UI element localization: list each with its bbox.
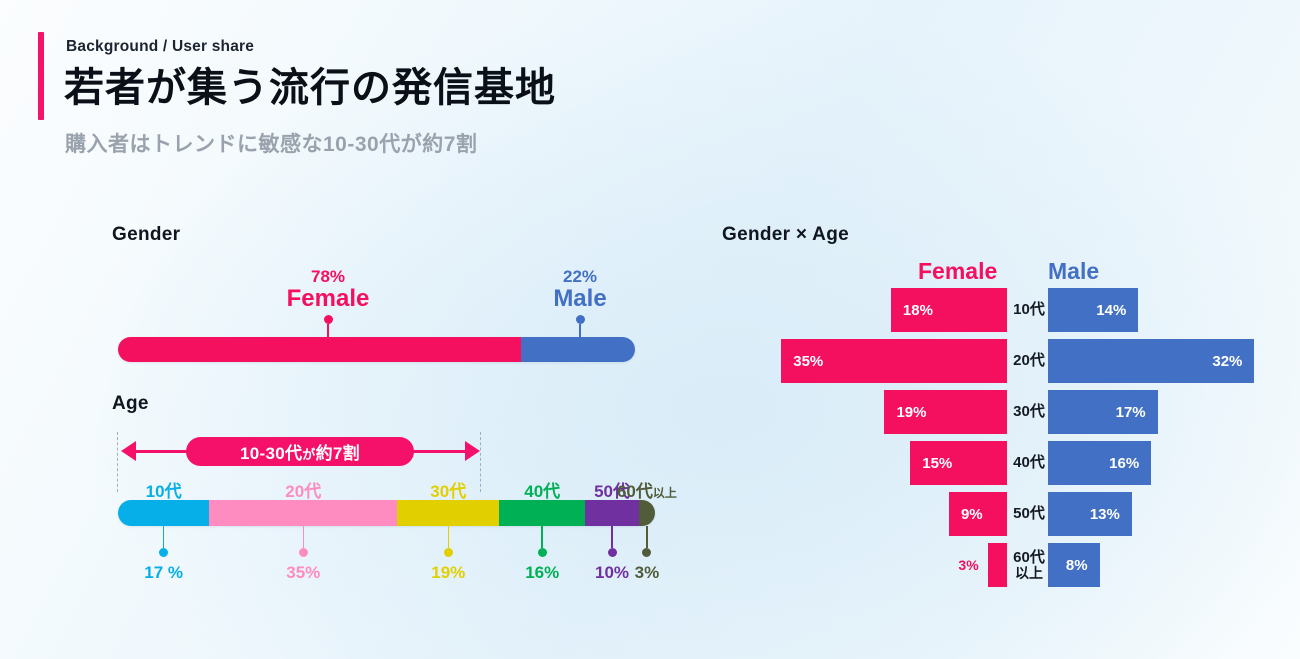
age-dot — [538, 548, 547, 557]
age-dot — [299, 548, 308, 557]
age-percent-text: 19% — [403, 563, 493, 583]
cross-row-60代以上: 3%60代以上8% — [700, 543, 1280, 587]
age-percent-60代: 3% — [602, 526, 692, 583]
gender-callout-male: 22% Male — [530, 268, 630, 345]
cross-female-pct: 19% — [884, 404, 938, 421]
cross-male-bar: 14% — [1048, 288, 1138, 332]
age-label-10代: 10代 — [119, 477, 209, 502]
age-label-60代: 60代以上 — [602, 477, 692, 502]
gender-female-pct: 78% — [268, 268, 388, 286]
eyebrow-text: Background / User share — [66, 38, 254, 56]
cross-male-bar: 8% — [1048, 543, 1100, 587]
cross-female-bar: 15% — [910, 441, 1007, 485]
gender-bar-segment-male — [521, 337, 635, 362]
section-title-gender: Gender — [112, 224, 180, 246]
age-stem — [541, 526, 543, 548]
cross-female-bar: 35% — [781, 339, 1007, 383]
cross-male-pct: 8% — [1054, 557, 1100, 574]
age-bar-segment-20代 — [209, 500, 397, 526]
gender-male-dot — [576, 315, 585, 324]
age-callout-text: 10-30代が約7割 — [240, 439, 360, 464]
cross-row-40代: 15%40代16% — [700, 441, 1280, 485]
gender-stacked-bar — [118, 337, 635, 362]
cross-row-50代: 9%50代13% — [700, 492, 1280, 536]
age-percent-10代: 17 % — [119, 526, 209, 583]
age-stem — [303, 526, 305, 548]
cross-female-bar: 18% — [891, 288, 1007, 332]
age-bar-segment-50代 — [585, 500, 639, 526]
age-stem — [163, 526, 165, 548]
age-percent-text: 3% — [602, 563, 692, 583]
age-dot — [642, 548, 651, 557]
cross-age-label-line1: 10代 — [1013, 302, 1045, 318]
page-title: 若者が集う流行の発信基地 — [64, 66, 556, 111]
cross-age-label: 10代 — [1007, 288, 1051, 332]
age-stem — [448, 526, 450, 548]
cross-header-male: Male — [1048, 258, 1099, 285]
cross-age-label-line1: 50代 — [1013, 506, 1045, 522]
cross-female-side: 35% — [700, 339, 1007, 383]
gender-callout-female: 78% Female — [268, 268, 388, 345]
gender-male-pct: 22% — [530, 268, 630, 286]
cross-male-bar: 16% — [1048, 441, 1151, 485]
section-title-gender-age: Gender × Age — [722, 224, 849, 246]
gender-bar-segment-female — [118, 337, 521, 362]
arrow-right-icon — [465, 441, 480, 461]
gender-female-label: Female — [268, 286, 388, 312]
cross-female-bar: 19% — [884, 390, 1007, 434]
age-stacked-bar — [118, 500, 655, 526]
cross-age-label-line2: 以上 — [1015, 566, 1043, 581]
age-percent-30代: 19% — [403, 526, 493, 583]
age-label-30代: 30代 — [403, 477, 493, 502]
cross-female-side: 9% — [700, 492, 1007, 536]
cross-header-female: Female — [918, 258, 997, 285]
cross-age-label-line1: 40代 — [1013, 455, 1045, 471]
age-callout-pill: 10-30代が約7割 — [186, 437, 414, 466]
cross-male-pct: 13% — [1078, 506, 1132, 523]
cross-age-label: 50代 — [1007, 492, 1051, 536]
cross-age-label-line1: 60代 — [1013, 550, 1045, 566]
cross-female-pct: 35% — [781, 353, 835, 370]
cross-male-pct: 32% — [1200, 353, 1254, 370]
cross-age-label: 40代 — [1007, 441, 1051, 485]
age-bar-segment-60代 — [639, 500, 655, 526]
cross-male-pct: 14% — [1084, 302, 1138, 319]
cross-male-bar: 13% — [1048, 492, 1132, 536]
age-percent-text: 17 % — [119, 563, 209, 583]
age-dot — [159, 548, 168, 557]
section-title-age: Age — [112, 393, 149, 415]
cross-female-side: 3% — [700, 543, 1007, 587]
cross-female-pct-outside: 3% — [958, 557, 987, 573]
cross-male-bar: 17% — [1048, 390, 1158, 434]
cross-female-bar: 9% — [949, 492, 1007, 536]
cross-row-10代: 18%10代14% — [700, 288, 1280, 332]
age-percent-text: 35% — [258, 563, 348, 583]
cross-female-side: 18% — [700, 288, 1007, 332]
cross-female-side: 15% — [700, 441, 1007, 485]
age-dot — [444, 548, 453, 557]
age-label-20代: 20代 — [258, 477, 348, 502]
age-stem — [646, 526, 648, 548]
gender-male-label: Male — [530, 286, 630, 312]
cross-row-20代: 35%20代32% — [700, 339, 1280, 383]
cross-male-pct: 17% — [1104, 404, 1158, 421]
gender-female-dot — [324, 315, 333, 324]
age-bar-segment-40代 — [499, 500, 585, 526]
arrow-left-icon — [121, 441, 136, 461]
page-subtitle: 購入者はトレンドに敏感な10-30代が約7割 — [65, 128, 477, 158]
cross-age-label: 20代 — [1007, 339, 1051, 383]
cross-female-pct: 15% — [910, 455, 964, 472]
cross-female-bar — [988, 543, 1007, 587]
cross-male-bar: 32% — [1048, 339, 1254, 383]
slide-root: Background / User share 若者が集う流行の発信基地 購入者… — [0, 0, 1300, 659]
cross-female-side: 19% — [700, 390, 1007, 434]
cross-age-label-line1: 20代 — [1013, 353, 1045, 369]
age-bar-segment-10代 — [118, 500, 209, 526]
age-percent-20代: 35% — [258, 526, 348, 583]
cross-age-label: 30代 — [1007, 390, 1051, 434]
cross-male-pct: 16% — [1097, 455, 1151, 472]
cross-female-pct: 18% — [891, 302, 945, 319]
age-bar-segment-30代 — [397, 500, 499, 526]
accent-bar — [38, 32, 44, 120]
cross-age-label-line1: 30代 — [1013, 404, 1045, 420]
cross-age-label: 60代以上 — [1007, 543, 1051, 587]
cross-female-pct: 9% — [949, 506, 995, 523]
cross-row-30代: 19%30代17% — [700, 390, 1280, 434]
